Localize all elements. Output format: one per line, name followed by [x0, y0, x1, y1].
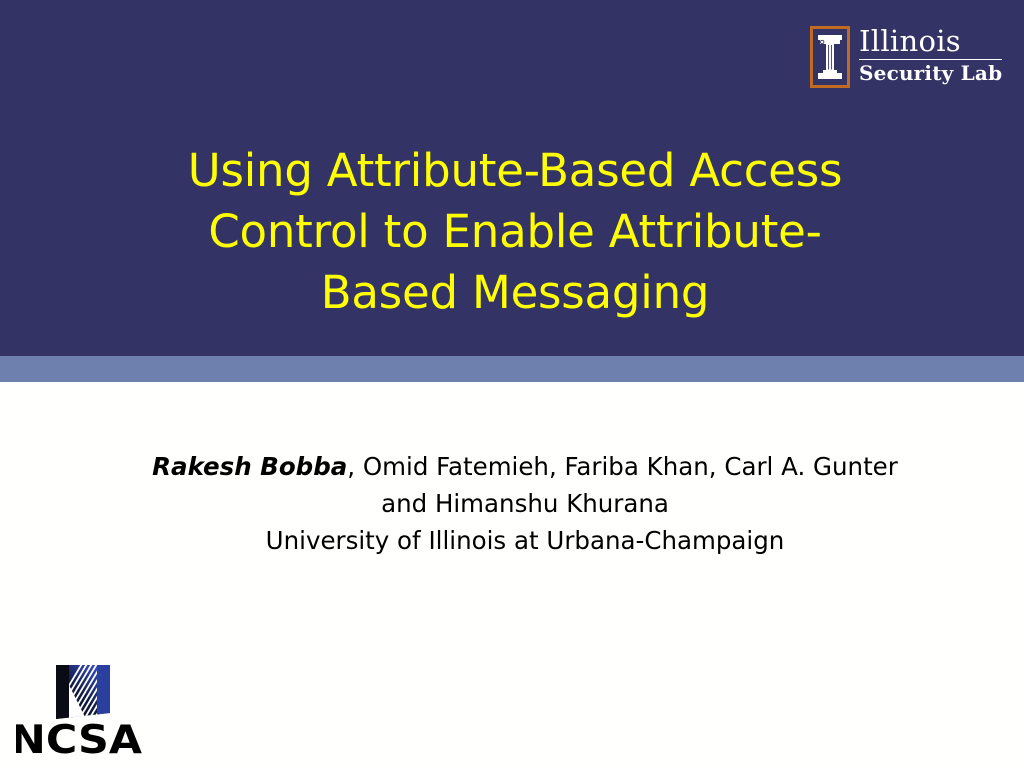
illinois-logo-divider [859, 59, 1002, 60]
presentation-slide: Illinois Security Lab Using Attribute-Ba… [0, 0, 1024, 768]
illinois-logo-name: Illinois [859, 26, 1002, 57]
authors-line: Rakesh Bobba, Omid Fatemieh, Fariba Khan… [130, 448, 920, 522]
ncsa-logo: NCSA [16, 663, 144, 761]
ncsa-striped-n-icon [52, 663, 114, 721]
illinois-logo-subtitle: Security Lab [859, 62, 1002, 85]
ncsa-wordmark-text: NCSA [16, 721, 142, 761]
affiliation-text: University of Illinois at Urbana-Champai… [130, 522, 920, 559]
lead-author-name: Rakesh Bobba [152, 452, 347, 481]
illinois-wordmark: Illinois Security Lab [859, 26, 1002, 85]
authors-block: Rakesh Bobba, Omid Fatemieh, Fariba Khan… [130, 448, 920, 559]
slide-title-line-2: Control to Enable Attribute- [208, 205, 821, 258]
illinois-column-icon [810, 26, 850, 88]
ncsa-wordmark: NCSA [16, 721, 144, 761]
illinois-security-lab-logo: Illinois Security Lab [810, 26, 1010, 92]
co-authors-text: , Omid Fatemieh, Fariba Khan, Carl A. Gu… [347, 452, 898, 518]
slide-title-line-3: Based Messaging [321, 266, 710, 319]
slide-title-line-1: Using Attribute-Based Access [188, 144, 843, 197]
slide-accent-band [0, 356, 1024, 382]
slide-title: Using Attribute-Based Access Control to … [160, 140, 870, 323]
